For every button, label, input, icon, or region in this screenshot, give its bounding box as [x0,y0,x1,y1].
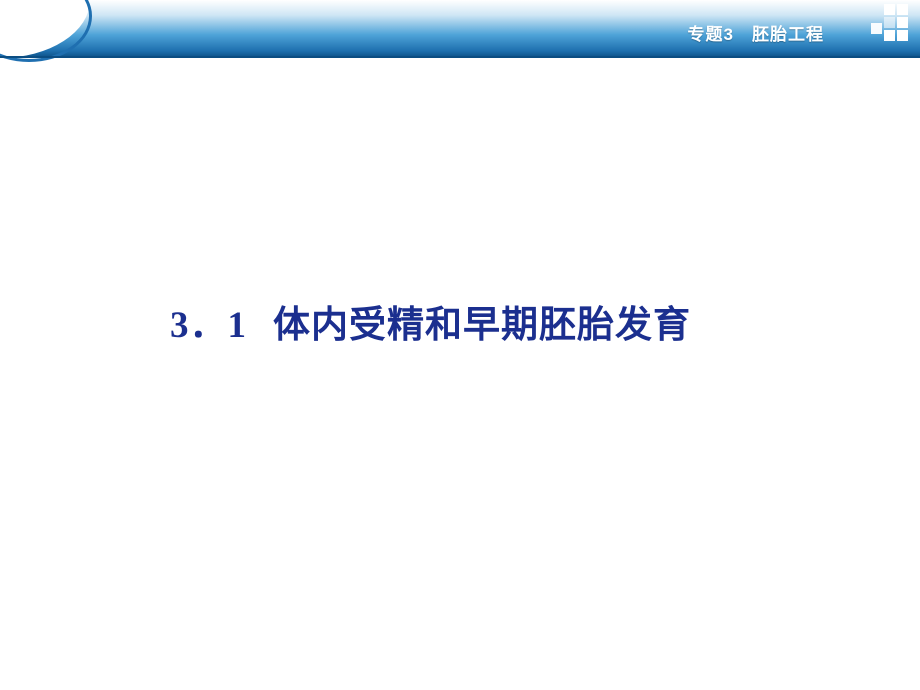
square-decor-2 [897,4,908,15]
squares-mosaic-icon [854,4,910,52]
square-decor-5 [884,30,895,41]
page-title: 3．1体内受精和早期胚胎发育 [170,294,691,348]
square-decor-3 [897,17,908,28]
square-decor-7 [884,17,895,28]
header-left-arc-decor [0,0,92,62]
header-title: 专题3 胚胎工程 [688,20,824,45]
square-decor-4 [871,23,882,34]
page-title-text: 体内受精和早期胚胎发育 [273,305,691,346]
page-title-number: 3．1 [170,305,247,346]
square-decor-6 [897,30,908,41]
square-decor-1 [884,4,895,15]
slide-canvas: 专题3 胚胎工程 3．1体内受精和早期胚胎发育 [0,0,920,690]
header-band: 专题3 胚胎工程 [0,0,920,58]
header-bottom-rule [0,56,920,58]
